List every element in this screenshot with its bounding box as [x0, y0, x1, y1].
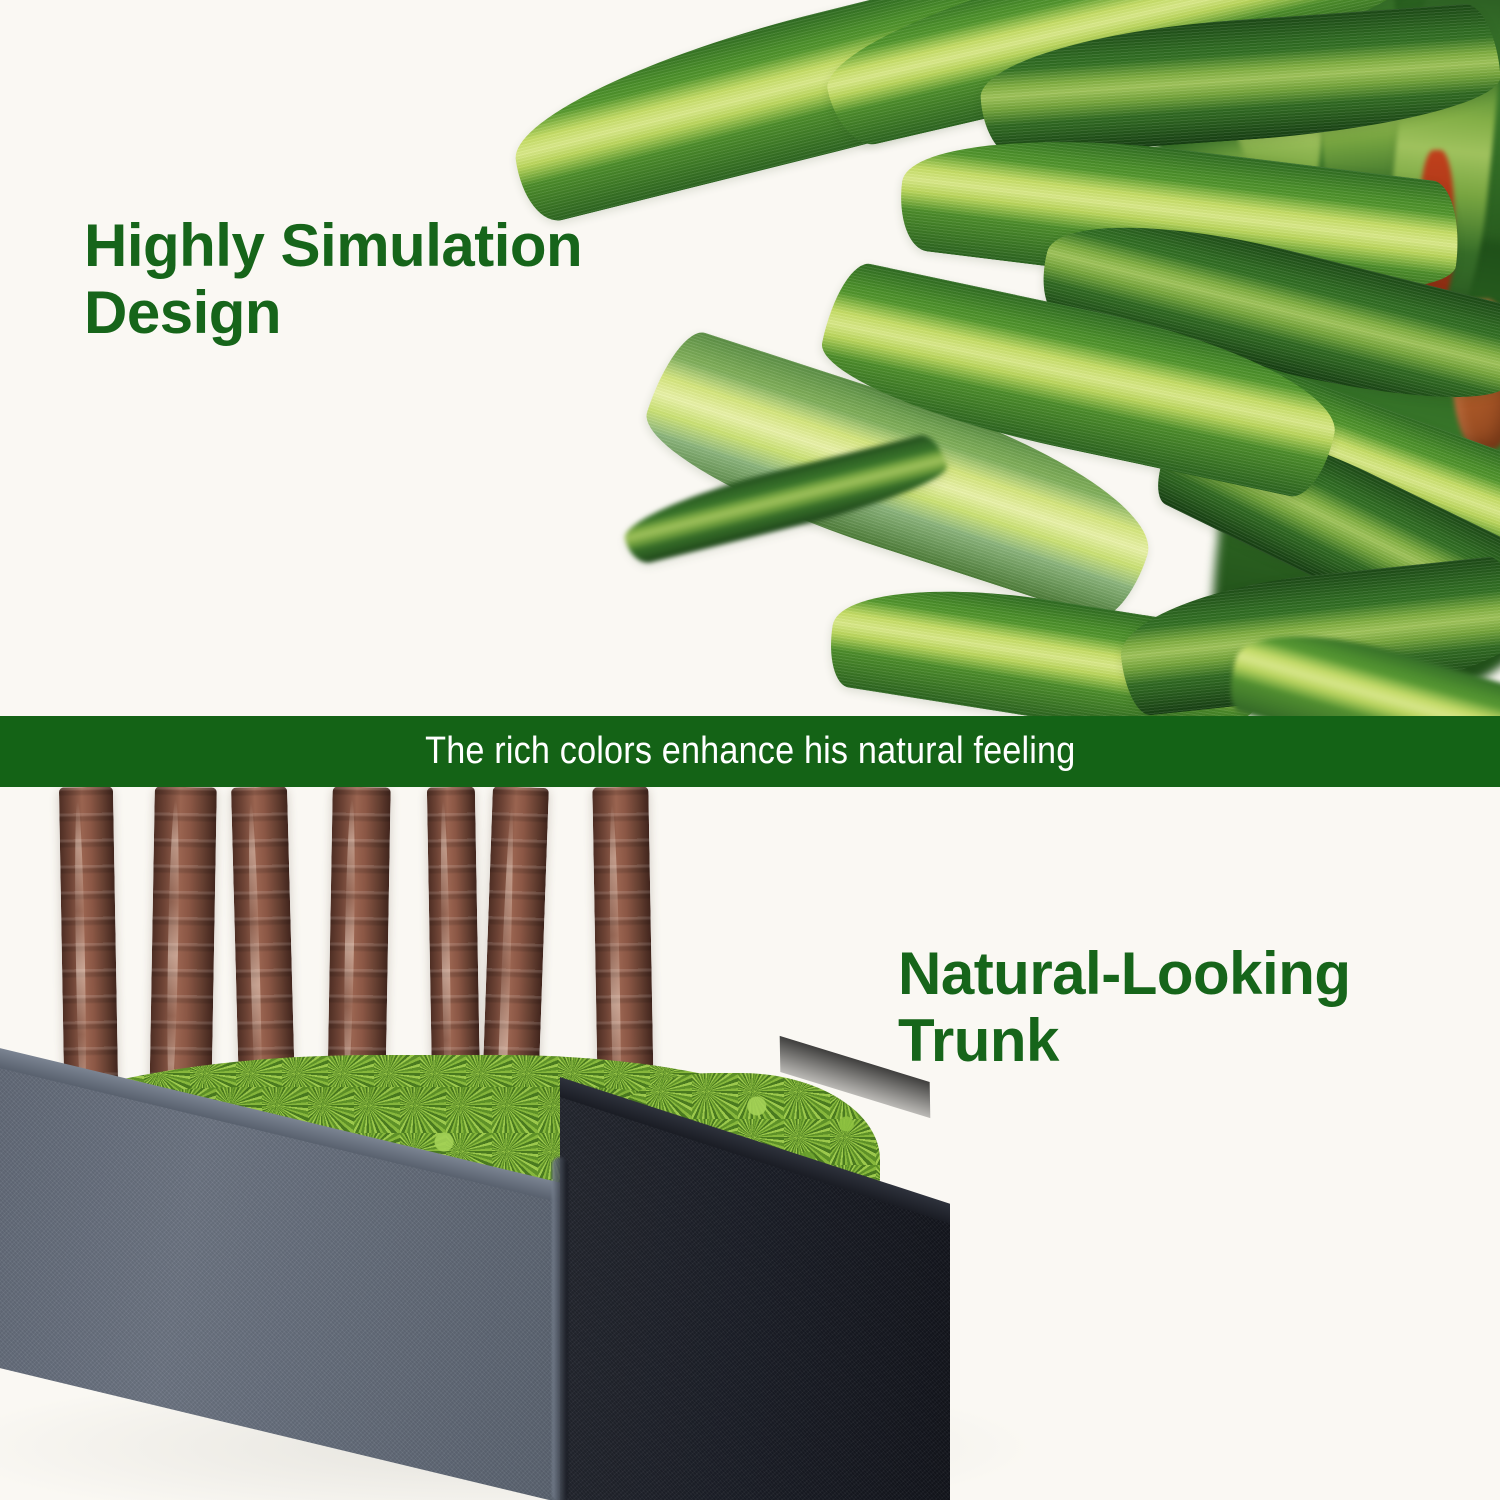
pot-front-corner [552, 1157, 568, 1500]
trunk-gloss [165, 800, 180, 1100]
product-feature-image: Highly Simulation Design The rich colors… [0, 0, 1500, 1500]
top-panel-heading: Highly Simulation Design [84, 212, 582, 346]
trunk-4 [327, 787, 390, 1099]
feature-banner: The rich colors enhance his natural feel… [0, 716, 1500, 787]
trunk-gloss [343, 799, 357, 1086]
top-panel: Highly Simulation Design [0, 0, 1500, 716]
bottom-panel-heading: Natural-Looking Trunk [898, 940, 1351, 1074]
bottom-panel: Natural-Looking Trunk [0, 787, 1500, 1500]
banner-text: The rich colors enhance his natural feel… [425, 730, 1075, 773]
